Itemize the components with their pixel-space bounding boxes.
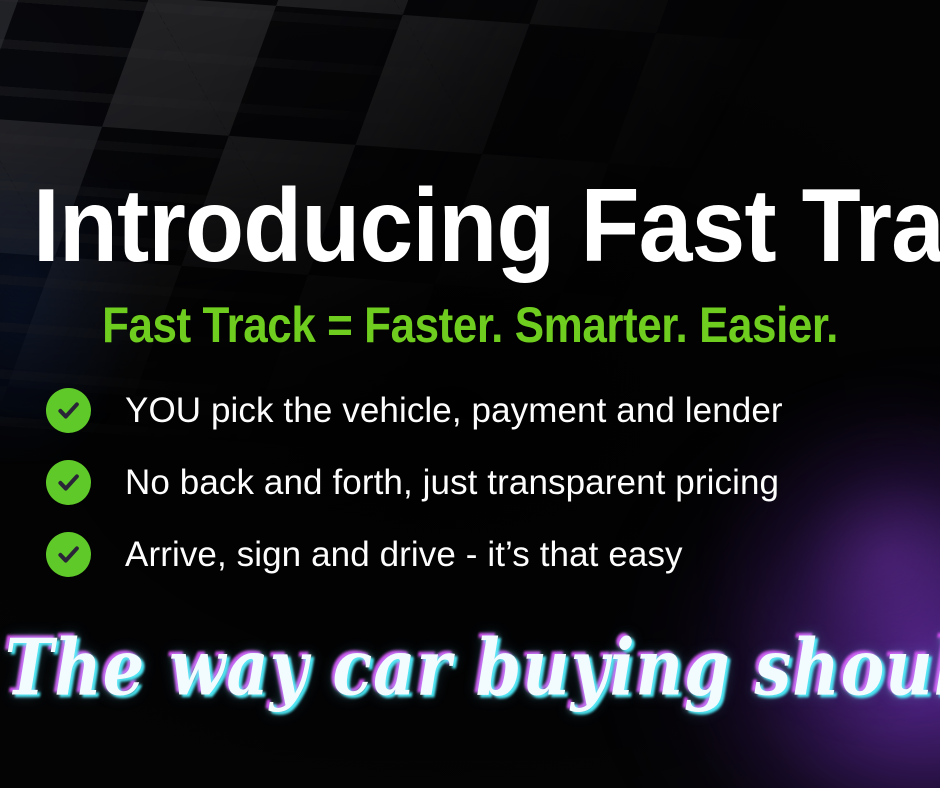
benefit-text: No back and forth, just transparent pric… <box>125 465 779 500</box>
check-circle-icon <box>46 388 91 433</box>
page-title: Introducing Fast Track <box>33 174 907 278</box>
benefits-list: YOU pick the vehicle, payment and lender… <box>46 374 906 590</box>
check-circle-icon <box>46 460 91 505</box>
poster-content: Introducing Fast Track Fast Track = Fast… <box>0 0 940 788</box>
check-circle-icon <box>46 532 91 577</box>
subheadline: Fast Track = Faster. Smarter. Easier. <box>56 300 883 350</box>
list-item: Arrive, sign and drive - it’s that easy <box>46 518 906 590</box>
fast-track-promo-poster: Introducing Fast Track Fast Track = Fast… <box>0 0 940 788</box>
tagline-text: The way car buying should be. <box>5 612 936 725</box>
list-item: No back and forth, just transparent pric… <box>46 446 906 518</box>
tagline-block: The way car buying should be. The way ca… <box>0 612 940 722</box>
benefit-text: Arrive, sign and drive - it’s that easy <box>125 537 683 572</box>
list-item: YOU pick the vehicle, payment and lender <box>46 374 906 446</box>
benefit-text: YOU pick the vehicle, payment and lender <box>125 393 783 428</box>
